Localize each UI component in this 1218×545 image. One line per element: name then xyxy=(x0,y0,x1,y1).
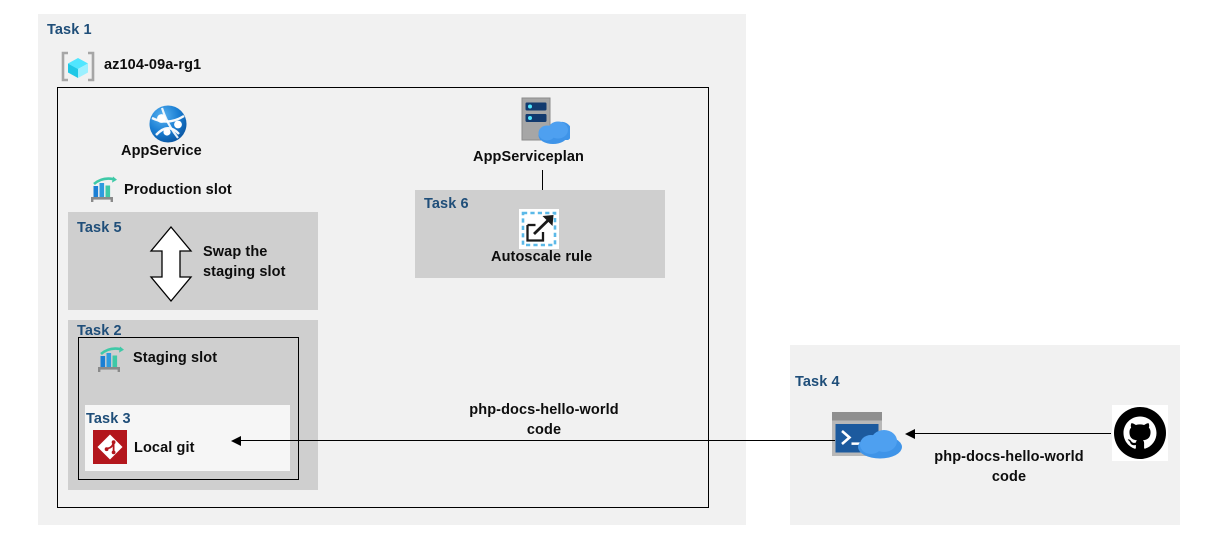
task6-label: Task 6 xyxy=(424,196,469,212)
connector-github-to-cloudshell-label: php-docs-hello-world code xyxy=(913,448,1105,487)
autoscale-expand-icon xyxy=(519,209,559,249)
connector-github-to-cloudshell-arrowhead xyxy=(905,429,915,439)
app-service-plan-icon xyxy=(512,96,570,146)
connector-label-line1: php-docs-hello-world xyxy=(913,448,1105,468)
deployment-slot-icon xyxy=(95,346,125,374)
connector-cloudshell-to-localgit-line xyxy=(241,440,835,441)
resource-group-name: az104-09a-rg1 xyxy=(104,57,201,73)
connector-label-line1: php-docs-hello-world xyxy=(448,401,640,421)
task1-label: Task 1 xyxy=(47,22,92,38)
task5-action-line1: Swap the staging slot xyxy=(203,244,286,280)
connector-github-to-cloudshell-line xyxy=(913,433,1111,434)
task5-action-label: Swap the staging slot xyxy=(203,243,313,282)
local-git-label: Local git xyxy=(134,440,195,456)
task5-label: Task 5 xyxy=(77,220,122,236)
resource-group-cube-icon xyxy=(59,50,97,83)
production-slot-label: Production slot xyxy=(124,182,232,198)
task3-label: Task 3 xyxy=(86,411,131,427)
git-repository-icon xyxy=(93,430,127,464)
connector-cloudshell-to-localgit-label: php-docs-hello-world code xyxy=(448,401,640,440)
cloud-shell-icon xyxy=(832,412,902,460)
swap-double-arrow-icon xyxy=(148,225,194,303)
autoscale-rule-label: Autoscale rule xyxy=(491,249,592,265)
app-service-globe-icon xyxy=(148,104,188,144)
connector-cloudshell-to-localgit-arrowhead xyxy=(231,436,241,446)
diagram-canvas: Task 1 az104-09a-rg1 xyxy=(0,0,1218,545)
task4-label: Task 4 xyxy=(795,374,840,390)
staging-slot-label: Staging slot xyxy=(133,350,217,366)
connector-label-line2: code xyxy=(448,421,640,441)
github-octocat-icon xyxy=(1112,405,1168,461)
appserviceplan-label: AppServiceplan xyxy=(473,149,584,165)
appservice-label: AppService xyxy=(121,143,202,159)
deployment-slot-icon xyxy=(88,176,118,204)
connector-label-line2: code xyxy=(913,468,1105,488)
